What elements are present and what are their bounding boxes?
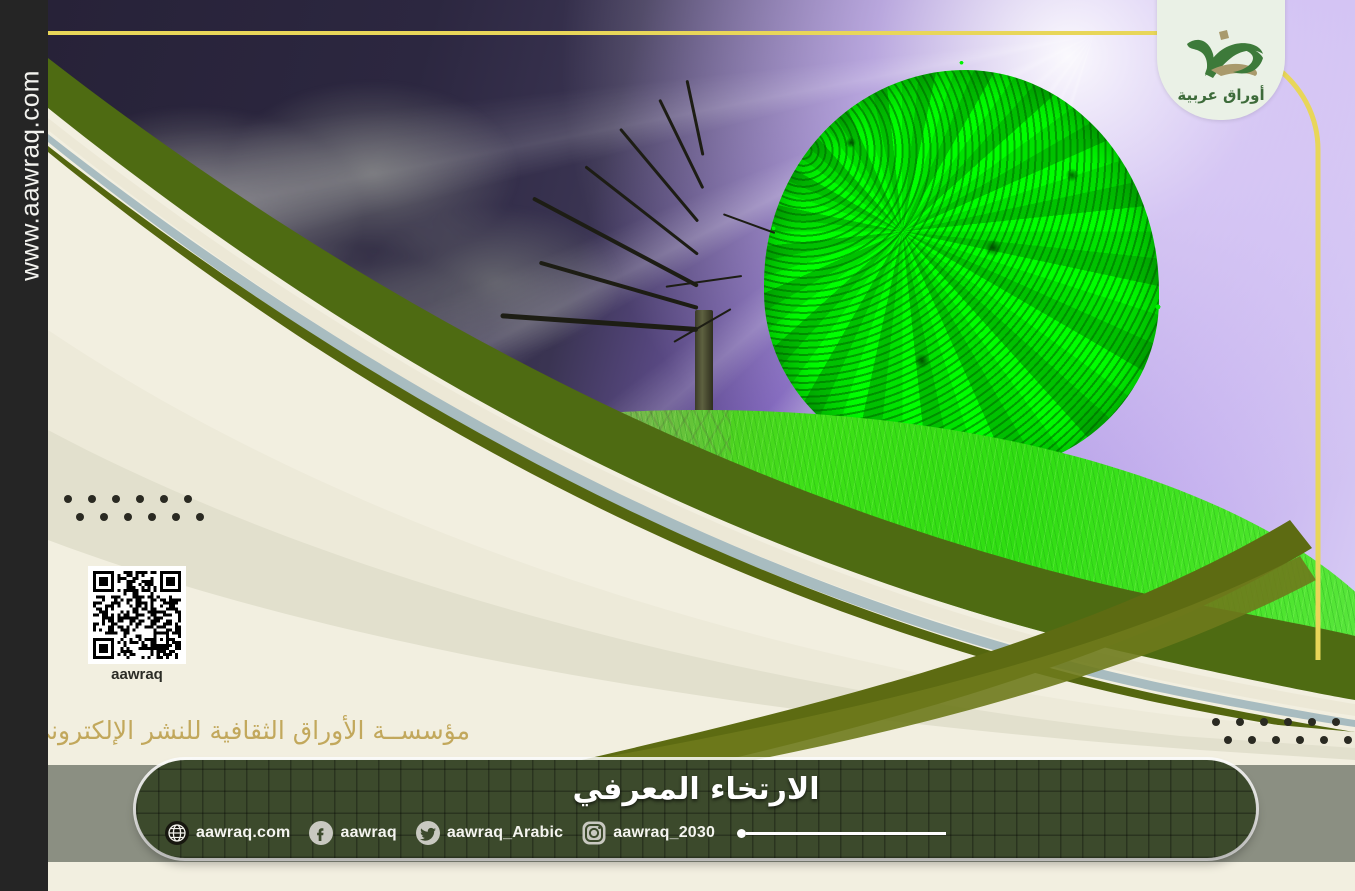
social-handle: aawraq_2030 — [613, 824, 715, 842]
dot-grid-right — [1212, 718, 1352, 744]
instagram-icon — [581, 820, 607, 846]
hill — [48, 410, 1355, 700]
bare-branch — [619, 128, 699, 222]
bare-branch — [659, 99, 705, 189]
social-handle: aawraq_Arabic — [447, 824, 563, 842]
gold-top-line — [48, 31, 1168, 35]
publisher-logo-badge[interactable]: أوراق عربية — [1157, 0, 1285, 120]
social-link-facebook[interactable]: aawraq — [308, 820, 396, 846]
title-bar: الارتخاء المعرفي aawraq.com — [136, 760, 1256, 858]
bare-branch — [686, 80, 705, 156]
social-handle: aawraq — [340, 824, 396, 842]
book-cover: www.aawraq.com أوراق عربية aawraq مؤسســ… — [0, 0, 1355, 891]
qr-code[interactable] — [88, 566, 186, 664]
twitter-icon — [415, 820, 441, 846]
logo-label: أوراق عربية — [1177, 86, 1264, 104]
globe-icon — [164, 820, 190, 846]
decorative-rule — [737, 829, 946, 838]
rule-dot — [737, 829, 746, 838]
qr-block[interactable]: aawraq — [88, 566, 186, 683]
spine-bar: www.aawraq.com — [0, 0, 48, 891]
spine-website-url: www.aawraq.com — [15, 36, 46, 316]
arabic-calligraphy-leaf-mark — [1175, 26, 1267, 82]
green-grass — [526, 410, 1355, 700]
publisher-name: مؤسســة الأوراق الثقافية للنشر الإلكترون… — [0, 716, 470, 745]
rule-line — [746, 832, 946, 835]
social-links: aawraq.com aawraq aawr — [164, 820, 946, 846]
dot-grid-left — [64, 495, 204, 521]
facebook-icon — [308, 820, 334, 846]
social-link-website[interactable]: aawraq.com — [164, 820, 290, 846]
social-link-instagram[interactable]: aawraq_2030 — [581, 820, 715, 846]
social-handle: aawraq.com — [196, 824, 290, 842]
cover-artwork — [48, 0, 1355, 700]
social-link-twitter[interactable]: aawraq_Arabic — [415, 820, 563, 846]
book-title: الارتخاء المعرفي — [136, 772, 1256, 807]
qr-label: aawraq — [88, 666, 186, 683]
